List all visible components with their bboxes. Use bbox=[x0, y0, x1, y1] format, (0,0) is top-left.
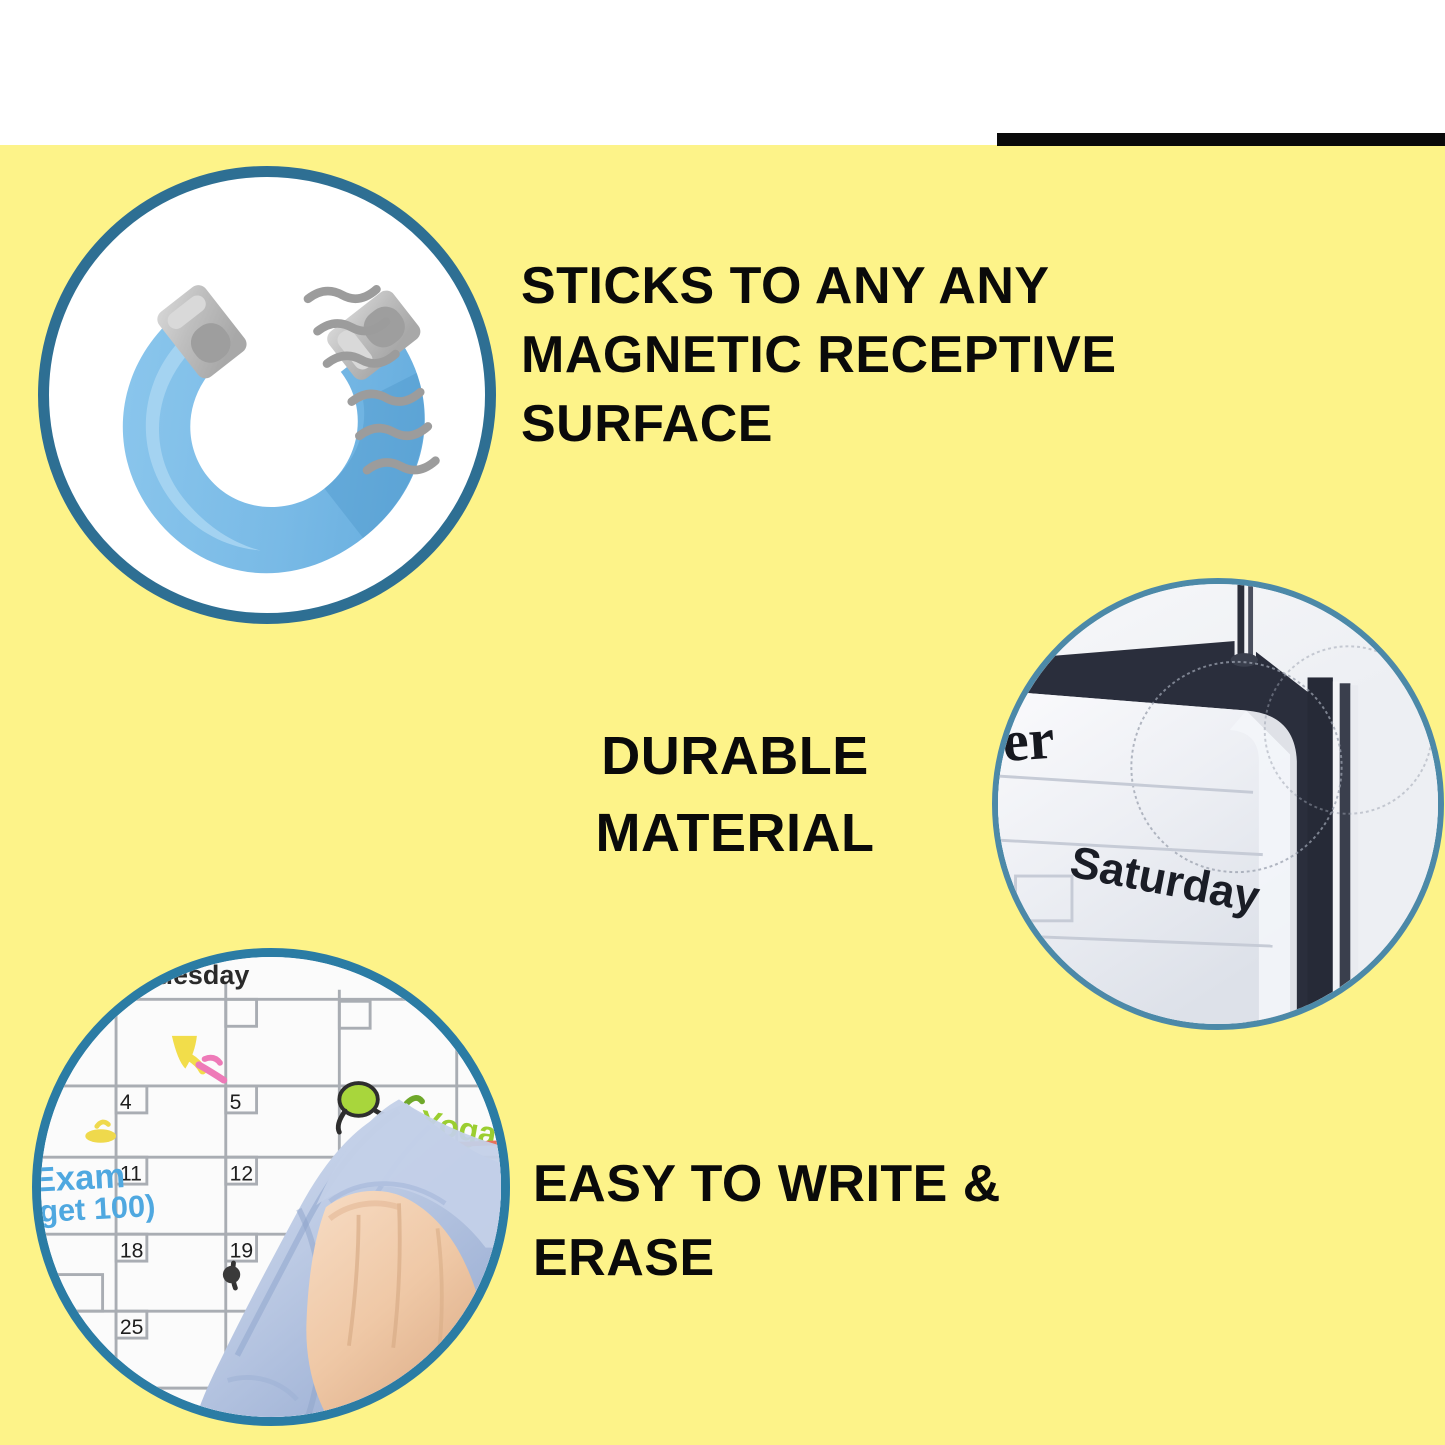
feature-label-magnetic: STICKS TO ANY ANY MAGNETIC RECEPTIVE SUR… bbox=[521, 252, 1211, 459]
svg-text:4: 4 bbox=[120, 1091, 132, 1114]
feature-label-durable: DURABLE MATERIAL bbox=[500, 718, 970, 871]
easy-erase-photo-circle: y Tuesday 4 5 6 11 12 13 18 19 25 Exam (… bbox=[32, 948, 510, 1426]
svg-text:18: 18 bbox=[120, 1239, 144, 1262]
features-poster: FEATURES bbox=[0, 0, 1445, 1445]
feature-label-erase: EASY TO WRITE & ERASE bbox=[533, 1148, 1193, 1296]
magnet-icon-circle bbox=[38, 166, 496, 624]
tuesday-header: Tuesday bbox=[142, 960, 249, 990]
header-underline-rule bbox=[997, 133, 1445, 146]
svg-text:25: 25 bbox=[120, 1316, 144, 1339]
header-band bbox=[0, 0, 1445, 145]
svg-text:5: 5 bbox=[230, 1091, 242, 1114]
svg-text:19: 19 bbox=[230, 1239, 254, 1262]
durable-material-photo-circle: er Saturday bbox=[992, 578, 1444, 1030]
svg-text:12: 12 bbox=[230, 1162, 254, 1185]
partial-day-header: y bbox=[91, 962, 106, 992]
wipe-cloth-photo: y Tuesday 4 5 6 11 12 13 18 19 25 Exam (… bbox=[41, 957, 501, 1417]
calendar-corner-photo: er Saturday bbox=[998, 584, 1438, 1024]
svg-text:(get 100): (get 100) bbox=[41, 1188, 156, 1230]
pen-stem bbox=[1231, 584, 1258, 667]
partial-month-label: er bbox=[1000, 706, 1056, 774]
magnet-icon bbox=[49, 177, 485, 613]
